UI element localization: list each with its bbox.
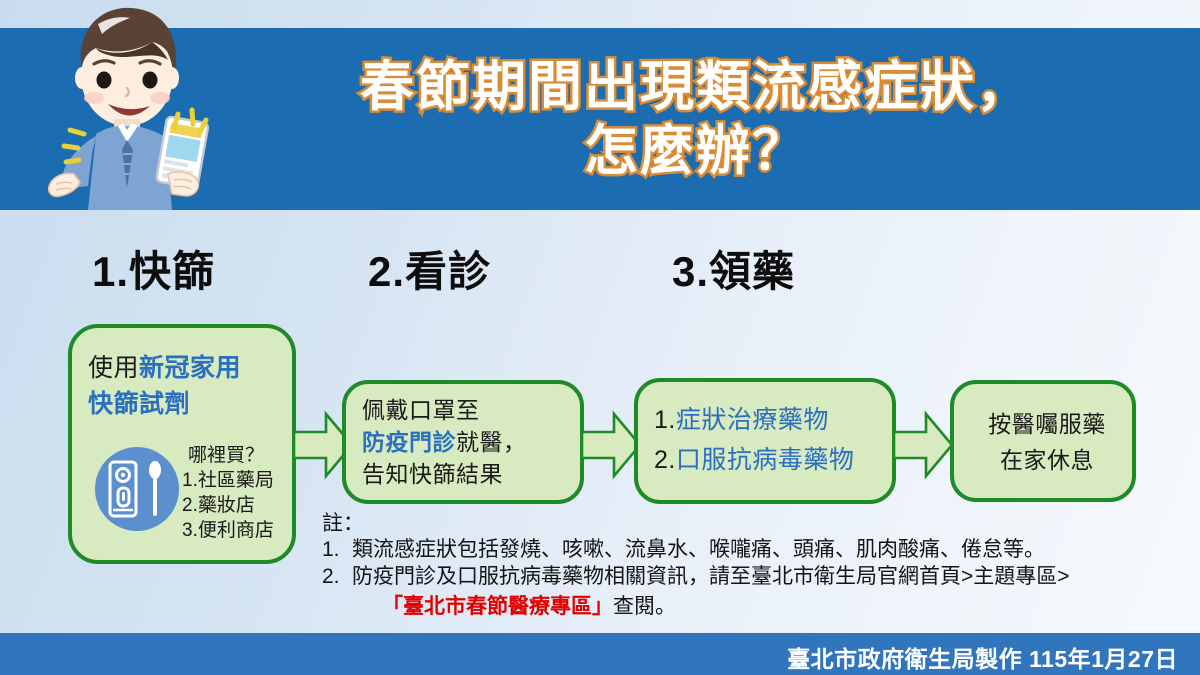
- box1-line-2: 快篩試劑: [88, 388, 190, 421]
- box3-item-2: 2.口服抗病毒藥物: [654, 444, 854, 477]
- flow-box-rest-at-home: 按醫囑服藥 在家休息: [950, 380, 1136, 502]
- box3-item2-number: 2.: [654, 446, 676, 474]
- note-item-2: 2. 防疫門診及口服抗病毒藥物相關資訊，請至臺北市衛生局官網首頁>主題專區> 「…: [322, 563, 1182, 620]
- box1-line-1: 使用新冠家用: [88, 352, 241, 385]
- test-kit-icon: [94, 446, 180, 532]
- note-2-subline: 「臺北市春節醫療專區」查閱。: [352, 593, 1182, 620]
- flow-box-clinic-visit: 佩戴口罩至 防疫門診就醫， 告知快篩結果: [342, 380, 584, 504]
- note-2-suffix: 查閱。: [613, 595, 676, 618]
- step-heading-1: 1.快篩: [92, 238, 215, 299]
- box2-line-1: 佩戴口罩至: [362, 396, 480, 426]
- box3-item2-text: 口服抗病毒藥物: [676, 446, 855, 474]
- note-1-number: 1.: [322, 536, 352, 563]
- box4-line-1: 按醫囑服藥: [954, 410, 1140, 440]
- footer-bar: 臺北市政府衛生局製作 115年1月27日: [0, 633, 1200, 675]
- poster-title: 春節期間出現類流感症狀， 怎麼辦？: [196, 34, 1196, 206]
- buy-option-2: 2.藥妝店: [182, 493, 274, 518]
- buy-option-3: 3.便利商店: [182, 518, 274, 543]
- note-2-highlight: 「臺北市春節醫療專區」: [382, 595, 613, 618]
- flow-arrow-2-icon: [580, 408, 642, 482]
- box1-line1-black: 使用: [88, 354, 139, 382]
- note-1-text: 類流感症狀包括發燒、咳嗽、流鼻水、喉嚨痛、頭痛、肌肉酸痛、倦怠等。: [352, 536, 1182, 563]
- note-item-1: 1. 類流感症狀包括發燒、咳嗽、流鼻水、喉嚨痛、頭痛、肌肉酸痛、倦怠等。: [322, 536, 1182, 563]
- footer-credit: 臺北市政府衛生局製作 115年1月27日: [787, 640, 1178, 674]
- note-2-number: 2.: [322, 563, 352, 590]
- flow-box-medication: 1.症狀治療藥物 2.口服抗病毒藥物: [634, 378, 896, 504]
- box4-line-2: 在家休息: [954, 446, 1140, 476]
- poster-root: 春節期間出現類流感症狀， 怎麼辦？ 1.快篩 2.看診 3.領藥 使用新冠家用 …: [0, 0, 1200, 675]
- box2-line-3: 告知快篩結果: [362, 460, 503, 490]
- notes-title: 註：: [322, 512, 1182, 536]
- buy-question-label: 哪裡買？: [188, 440, 264, 467]
- flow-arrow-3-icon: [892, 408, 954, 482]
- box1-line1-blue: 新冠家用: [139, 354, 241, 382]
- flow-box-rapid-test: 使用新冠家用 快篩試劑 哪裡買？ 1.社區藥局 2.藥妝店 3.便利商店: [68, 324, 296, 564]
- step-heading-3: 3.領藥: [672, 238, 795, 299]
- box3-item-1: 1.症狀治療藥物: [654, 404, 829, 437]
- box2-line2-black: 就醫，: [456, 429, 527, 455]
- note-2-text: 防疫門診及口服抗病毒藥物相關資訊，請至臺北市衛生局官網首頁>主題專區>: [352, 565, 1070, 588]
- box2-line-2: 防疫門診就醫，: [362, 428, 527, 458]
- buy-option-1: 1.社區藥局: [182, 468, 274, 493]
- box2-line2-blue: 防疫門診: [362, 429, 456, 455]
- note-2-body: 防疫門診及口服抗病毒藥物相關資訊，請至臺北市衛生局官網首頁>主題專區> 「臺北市…: [352, 563, 1182, 620]
- notes-section: 註： 1. 類流感症狀包括發燒、咳嗽、流鼻水、喉嚨痛、頭痛、肌肉酸痛、倦怠等。 …: [322, 512, 1182, 620]
- step-headings: 1.快篩 2.看診 3.領藥: [0, 238, 1200, 298]
- box3-item1-number: 1.: [654, 406, 676, 434]
- title-line-2: 怎麼辦？: [584, 120, 808, 184]
- box3-item1-text: 症狀治療藥物: [676, 406, 829, 434]
- buy-options-list: 1.社區藥局 2.藥妝店 3.便利商店: [182, 468, 274, 543]
- title-line-1: 春節期間出現類流感症狀，: [360, 56, 1032, 120]
- step-heading-2: 2.看診: [368, 238, 491, 299]
